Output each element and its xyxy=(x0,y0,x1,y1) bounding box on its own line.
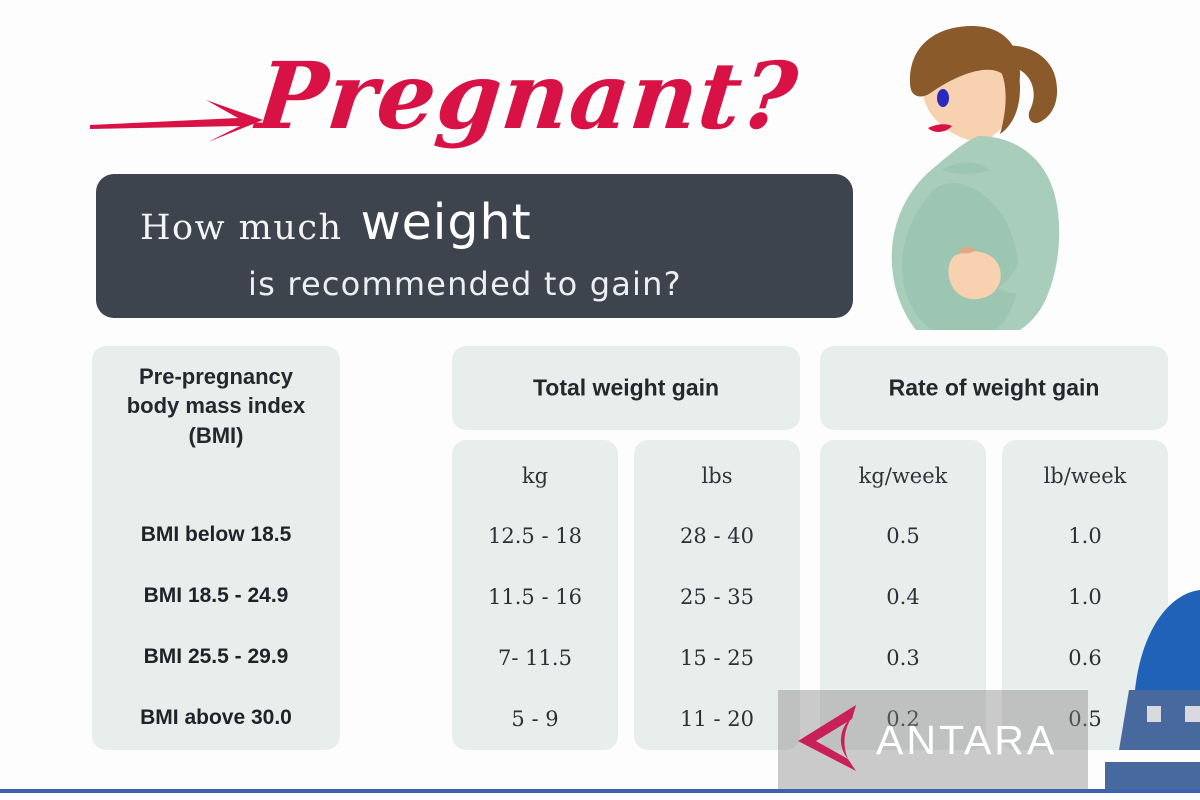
table-cell: 0.3 xyxy=(820,646,986,670)
unit-header-kg: kg xyxy=(452,464,618,488)
page-title: Pregnant? xyxy=(253,50,802,142)
table-cell: 28 - 40 xyxy=(634,524,800,548)
table-cell: 7- 11.5 xyxy=(452,646,618,670)
table-cell: 0.5 xyxy=(820,524,986,548)
unit-header-lb-week: lb/week xyxy=(1002,464,1168,488)
antara-triangle-logo-icon xyxy=(792,701,866,780)
table-row: BMI above 30.0 xyxy=(92,706,340,730)
banner-line-two: is recommended to gain? xyxy=(248,265,682,303)
bmi-header-line-1: Pre-pregnancy xyxy=(102,362,330,391)
table-cell: 25 - 35 xyxy=(634,585,800,609)
unit-header-lbs: lbs xyxy=(634,464,800,488)
bmi-header-line-3: (BMI) xyxy=(102,421,330,450)
group-header-rate-label: Rate of weight gain xyxy=(820,375,1168,402)
question-banner: How much weight is recommended to gain? xyxy=(96,174,853,318)
table-cell: 1.0 xyxy=(1002,524,1168,548)
group-header-total-label: Total weight gain xyxy=(452,375,800,402)
column-bmi: Pre-pregnancy body mass index (BMI) BMI … xyxy=(92,346,340,750)
bottom-white-strip xyxy=(0,793,1200,800)
group-header-rate-of-weight-gain: Rate of weight gain xyxy=(820,346,1168,430)
bmi-header-line-2: body mass index xyxy=(102,391,330,420)
table-row: BMI below 18.5 xyxy=(92,523,340,547)
unit-header-kg-week: kg/week xyxy=(820,464,986,488)
table-cell: 12.5 - 18 xyxy=(452,524,618,548)
headline: Pregnant? xyxy=(0,28,880,158)
banner-line-one: How much weight xyxy=(140,194,532,251)
column-header-bmi: Pre-pregnancy body mass index (BMI) xyxy=(102,362,330,450)
column-lbs: lbs 28 - 40 25 - 35 15 - 25 11 - 20 xyxy=(634,440,800,750)
table-cell: 0.4 xyxy=(820,585,986,609)
blue-dome-building-icon xyxy=(1085,580,1200,790)
table-cell: 11.5 - 16 xyxy=(452,585,618,609)
group-header-total-weight-gain: Total weight gain xyxy=(452,346,800,430)
banner-emphasis-text: weight xyxy=(361,194,532,251)
pregnant-woman-illustration xyxy=(880,18,1095,336)
column-kg: kg 12.5 - 18 11.5 - 16 7- 11.5 5 - 9 xyxy=(452,440,618,750)
table-cell: 5 - 9 xyxy=(452,707,618,731)
right-arrow-icon xyxy=(88,100,263,142)
table-row: BMI 18.5 - 24.9 xyxy=(92,584,340,608)
table-cell: 15 - 25 xyxy=(634,646,800,670)
antara-wordmark: ANTARA xyxy=(876,720,1057,761)
table-row: BMI 25.5 - 29.9 xyxy=(92,645,340,669)
table-cell: 11 - 20 xyxy=(634,707,800,731)
infographic-canvas: Pregnant? How much weight is recommended… xyxy=(0,0,1200,800)
antara-watermark: ANTARA xyxy=(778,690,1088,790)
banner-prefix-text: How much xyxy=(140,208,343,248)
